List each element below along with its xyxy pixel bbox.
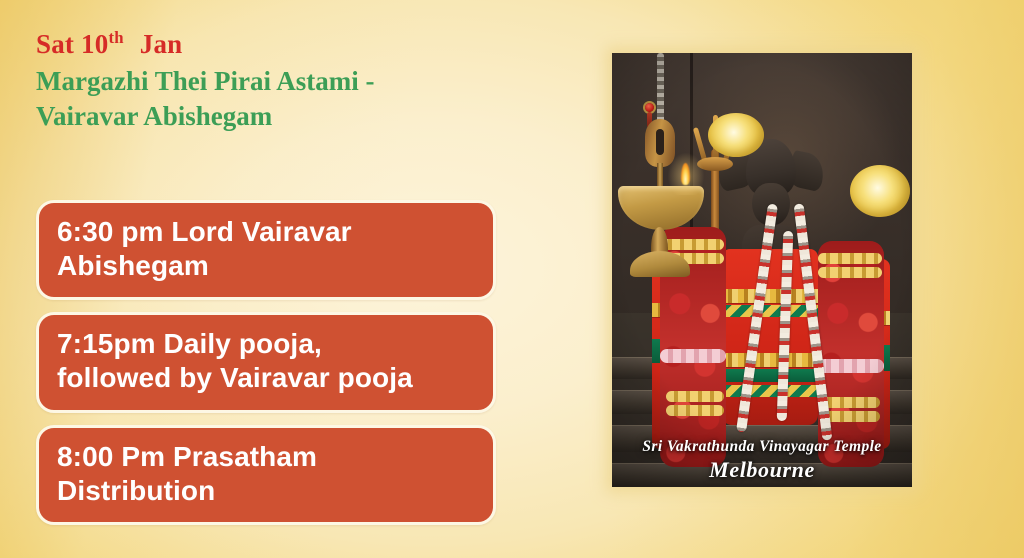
- green-trim-band: [722, 369, 818, 382]
- schedule-item[interactable]: 6:30 pm Lord Vairavar Abishegam: [36, 200, 496, 300]
- temple-name: Sri Vakrathunda Vinayagar Temple: [622, 438, 902, 456]
- event-poster: Sat 10thJan Margazhi Thei Pirai Astami -…: [0, 0, 1024, 558]
- schedule-item[interactable]: 7:15pm Daily pooja, followed by Vairavar…: [36, 312, 496, 412]
- zigzag-trim-band: [722, 305, 818, 317]
- photo-caption: Sri Vakrathunda Vinayagar Temple Melbour…: [612, 438, 912, 487]
- gold-flower-tier: [666, 405, 724, 416]
- festival-title: Margazhi Thei Pirai Astami - Vairavar Ab…: [36, 64, 476, 133]
- pink-flower-ring: [818, 359, 884, 373]
- event-date-month: Jan: [140, 29, 183, 59]
- pink-flower-ring: [660, 349, 726, 363]
- schedule-list: 6:30 pm Lord Vairavar Abishegam 7:15pm D…: [36, 200, 496, 525]
- event-date-day: Sat 10: [36, 29, 108, 59]
- zigzag-trim-band: [722, 385, 818, 397]
- event-date: Sat 10thJan: [36, 30, 556, 58]
- event-date-ordinal: th: [108, 28, 123, 47]
- forehead-tilak-icon: [645, 103, 654, 112]
- temple-photo: Sri Vakrathunda Vinayagar Temple Melbour…: [612, 53, 912, 487]
- gold-flower-tier: [818, 267, 882, 278]
- gold-flower-tier: [660, 239, 724, 250]
- schedule-item[interactable]: 8:00 Pm Prasatham Distribution: [36, 425, 496, 525]
- gold-trim-band: [722, 353, 818, 367]
- lamp-chain: [657, 53, 664, 123]
- schedule-item-text: 7:15pm Daily pooja, followed by Vairavar…: [57, 327, 477, 395]
- temple-city: Melbourne: [622, 457, 902, 483]
- gold-flower-tier: [820, 397, 880, 408]
- yellow-rose: [708, 113, 764, 157]
- temple-photo-image: Sri Vakrathunda Vinayagar Temple Melbour…: [612, 53, 912, 487]
- gold-flower-tier: [666, 391, 724, 402]
- schedule-item-text: 8:00 Pm Prasatham Distribution: [57, 440, 477, 508]
- gold-flower-tier: [818, 253, 882, 264]
- schedule-item-text: 6:30 pm Lord Vairavar Abishegam: [57, 215, 477, 283]
- poster-header: Sat 10thJan Margazhi Thei Pirai Astami -…: [36, 30, 556, 133]
- yellow-rose: [850, 165, 910, 217]
